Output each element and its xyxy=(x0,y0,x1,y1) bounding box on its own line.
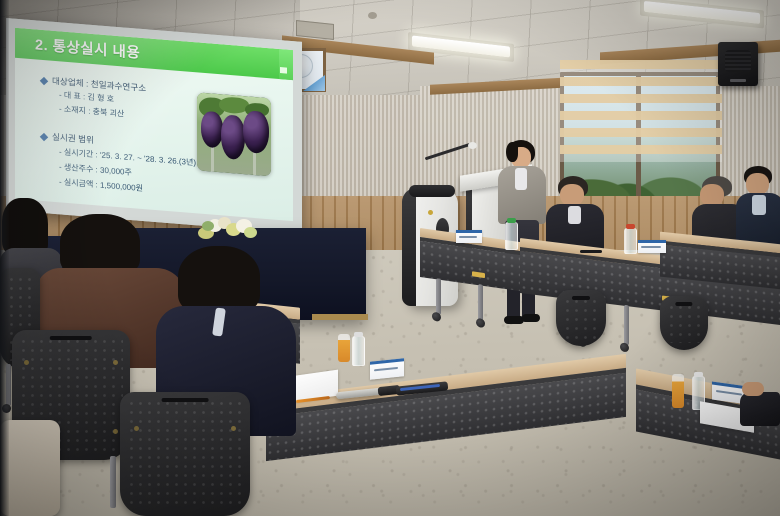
table-2-caster-b xyxy=(620,342,629,352)
name-card-text-line-3 xyxy=(374,367,398,372)
presenter-shoe-right xyxy=(522,314,540,322)
chair-fg-l-stud-1 xyxy=(24,360,29,365)
attendee-3-shirt xyxy=(752,195,766,215)
chair-fg-l-leg-right xyxy=(110,456,116,508)
diamond-bullet-icon xyxy=(40,77,48,85)
bottle-cap-icon xyxy=(507,218,516,223)
chair-fg-l-stud-2 xyxy=(113,360,118,365)
slide-bullet-1-sub-2: - 소재지 : 충북 괴산 xyxy=(59,103,124,119)
conference-room-photo: 2. 통상실시 내용 대상업체 : 천일과수연구소 - 대 표 : 김 형 호 … xyxy=(0,0,780,516)
water-bottle-3[interactable] xyxy=(352,336,365,366)
presenter-shoe-left xyxy=(504,316,524,324)
attendee-2-face xyxy=(700,184,724,206)
name-card-text-line-2 xyxy=(641,246,661,248)
chair-foreground-center[interactable] xyxy=(120,392,250,516)
chair-right-1[interactable] xyxy=(556,290,606,346)
diamond-bullet-icon-2 xyxy=(40,133,48,141)
slide-bullet-2-sub-3: - 실시금액 : 1,500,000원 xyxy=(59,176,143,194)
chair-right-2-back xyxy=(660,296,708,350)
chair-fg-c-handle xyxy=(162,398,209,402)
chair-fg-l-stud-4 xyxy=(113,429,118,434)
chair-right-2[interactable] xyxy=(660,296,708,350)
juice-bottle-2[interactable] xyxy=(672,374,684,408)
speaker-grille-icon xyxy=(725,50,751,72)
slide-bullet-2: 실시권 범위 xyxy=(41,130,94,146)
poster-corner-graphic xyxy=(303,75,325,91)
chair-fg-c-back xyxy=(120,392,250,516)
speaker-brand-mark xyxy=(730,79,746,82)
table-1-caster-mid xyxy=(476,318,485,328)
window-zebra-blind[interactable] xyxy=(560,60,722,162)
grape-cluster-1 xyxy=(201,111,223,149)
purifier-side-panel xyxy=(402,188,416,306)
bottle-cap-icon-2 xyxy=(626,224,635,229)
juice-bottle[interactable] xyxy=(338,334,350,362)
name-card-band xyxy=(456,230,482,233)
attendee-sleeve xyxy=(740,392,780,426)
chair-fg-bl-seat xyxy=(0,420,60,516)
chair-right-2-handle xyxy=(675,302,692,306)
chair-right-2-perf xyxy=(667,303,701,343)
wall-speaker xyxy=(718,42,758,86)
flower-arrangement xyxy=(196,215,258,241)
presenter-shirt xyxy=(515,168,527,190)
grape-cluster-2 xyxy=(221,114,245,160)
attendee-3-face xyxy=(746,173,769,195)
name-card-text-line xyxy=(459,236,477,238)
flower-foliage xyxy=(202,221,214,231)
chair-fg-l-handle xyxy=(50,336,92,340)
table-2-leg-b xyxy=(624,305,629,346)
water-bottle[interactable] xyxy=(505,222,518,250)
chair-fg-c-perf xyxy=(127,399,243,509)
sprinkler-icon xyxy=(368,12,377,19)
name-card-tent-3 xyxy=(370,358,404,380)
slide-grape-image xyxy=(197,92,271,176)
presenter-hair-side xyxy=(506,142,518,162)
presentation-slide: 2. 통상실시 내용 대상업체 : 천일과수연구소 - 대 표 : 김 형 호 … xyxy=(15,28,293,221)
name-card-text-line-4 xyxy=(716,390,742,396)
table-1-leg-left xyxy=(436,278,441,315)
chair-foreground-bottom-left[interactable] xyxy=(0,420,60,516)
attendee-hand xyxy=(742,382,764,396)
table-1-caster-left xyxy=(432,312,441,322)
table-1-leg-mid xyxy=(478,284,483,321)
purifier-top-vent xyxy=(409,185,455,197)
bottle-cap-icon-4 xyxy=(694,372,703,377)
attendee-1-shirt xyxy=(568,206,581,224)
chair-fg-c-stud-1 xyxy=(134,426,139,431)
fg-brown-hair xyxy=(60,214,140,276)
slide-corner-mark xyxy=(280,67,287,74)
name-card-tent xyxy=(456,230,482,243)
fg-navy-hair xyxy=(178,246,260,314)
bottle-cap-icon-3 xyxy=(354,332,363,337)
attendee-1-face xyxy=(560,184,584,206)
attendee-far-right-hand xyxy=(740,380,780,426)
grape-cluster-3 xyxy=(243,110,269,154)
flower-6 xyxy=(244,227,257,238)
slide-bullet-2-text: 실시권 범위 xyxy=(52,132,94,145)
name-card-tent-2 xyxy=(638,240,666,253)
chair-right-1-back xyxy=(556,290,606,346)
name-card-band-2 xyxy=(638,240,666,243)
slide-bullet-1-sub-1: - 대 표 : 김 형 호 xyxy=(59,89,114,104)
chair-fg-c-stud-2 xyxy=(231,426,236,431)
slide-bullet-2-sub-2: - 생산주수 : 30,000주 xyxy=(59,161,132,178)
purifier-status-led xyxy=(428,210,433,215)
lectern-microphone-head xyxy=(468,142,477,149)
pen[interactable] xyxy=(580,250,602,253)
head-table-skirt-base xyxy=(312,314,368,320)
chair-right-1-handle xyxy=(572,296,590,300)
chair-right-1-perf xyxy=(563,297,599,339)
frame-edge-shadow xyxy=(0,0,9,516)
water-bottle-2[interactable] xyxy=(624,228,637,254)
